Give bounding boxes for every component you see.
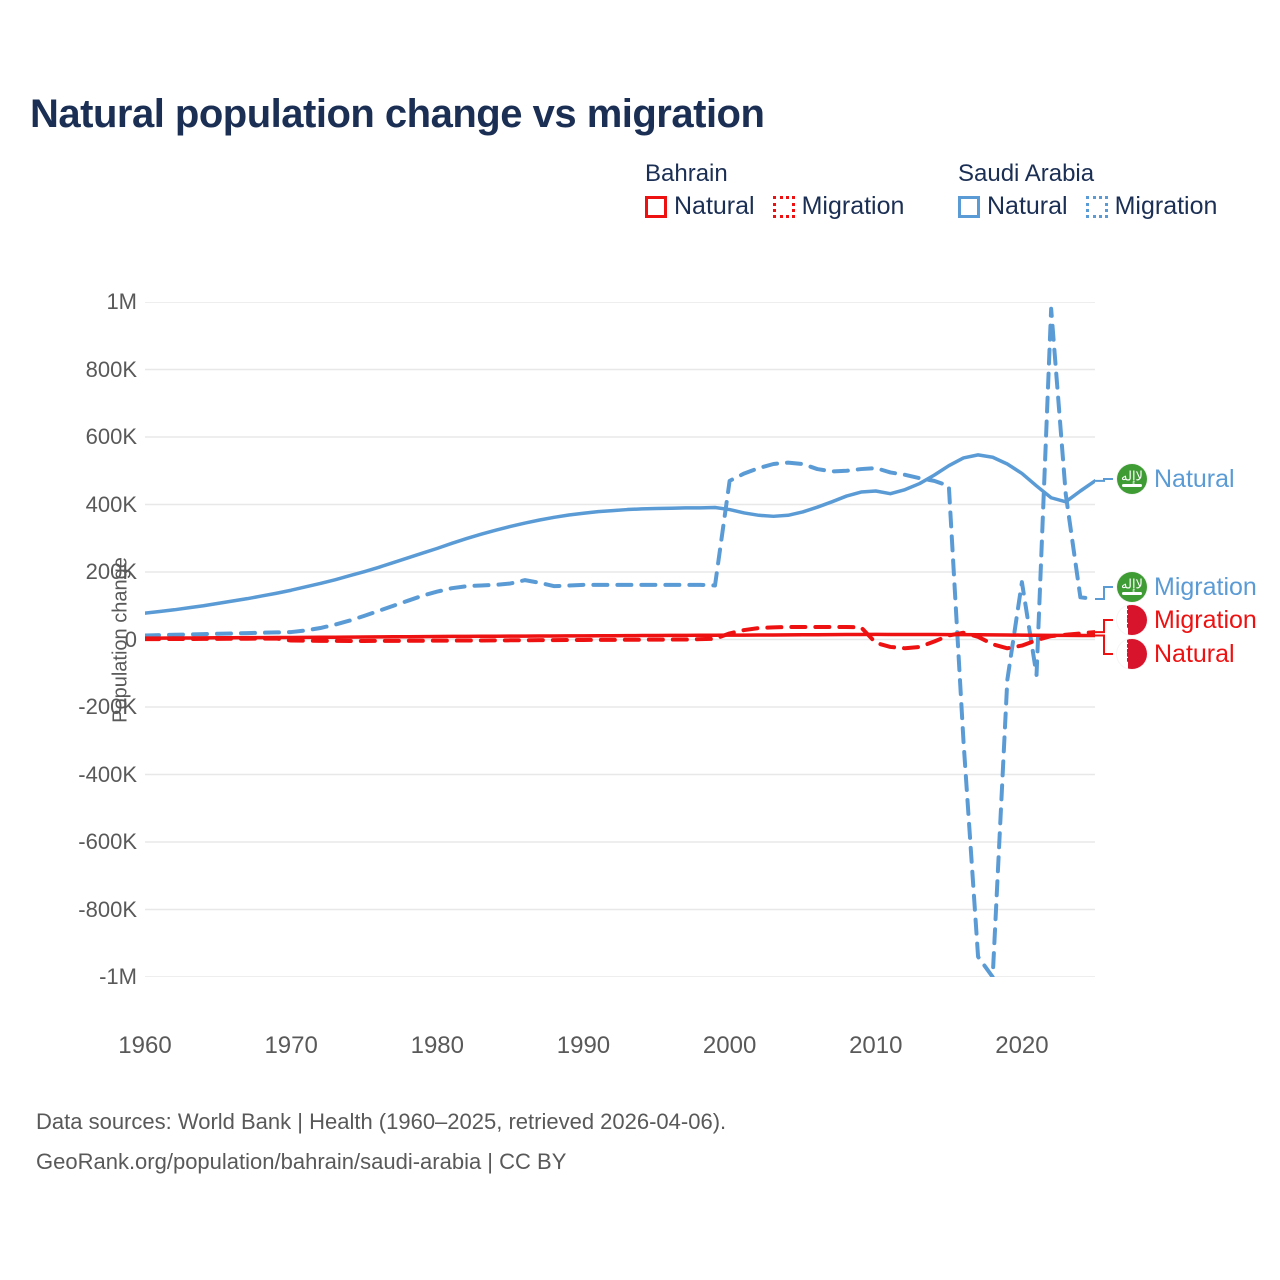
y-axis-tick-label: 600K [86, 424, 137, 450]
legend-group-title: Bahrain [645, 160, 904, 188]
saudi-arabia-flag-icon: لاإله [1117, 464, 1147, 494]
legend-swatch-dotted-icon [1086, 196, 1108, 218]
y-axis-tick-label: -600K [78, 829, 137, 855]
legend-swatch-solid-icon [645, 196, 667, 218]
legend-item-label: Migration [1115, 192, 1218, 221]
x-axis-tick-label: 1980 [411, 1032, 464, 1060]
legend-item-bahrain-natural[interactable]: Natural [645, 192, 755, 221]
series-end-label[interactable]: لاإلهMigration [1117, 572, 1257, 602]
bahrain-flag-icon [1117, 605, 1147, 635]
x-axis-tick-label: 1960 [118, 1032, 171, 1060]
y-axis-tick-label: -1M [99, 964, 137, 990]
legend-item-label: Natural [674, 192, 755, 221]
legend-item-label: Migration [802, 192, 905, 221]
chart-root: Natural population change vs migration B… [0, 0, 1280, 1280]
series-end-label-text: Migration [1154, 573, 1257, 602]
legend-item-bahrain-migration[interactable]: Migration [773, 192, 905, 221]
leader-path [1095, 587, 1113, 599]
saudi-arabia-flag-icon: لاإله [1117, 572, 1147, 602]
y-axis-tick-label: 0 [125, 627, 137, 653]
x-axis-tick-label: 2000 [703, 1032, 756, 1060]
x-axis-tick-label: 2010 [849, 1032, 902, 1060]
y-axis-tick-label: -800K [78, 897, 137, 923]
y-axis-tick-label: -400K [78, 762, 137, 788]
legend-item-saudi-migration[interactable]: Migration [1086, 192, 1218, 221]
leader-path [1095, 620, 1113, 632]
y-axis-tick-label: 800K [86, 357, 137, 383]
legend-group-bahrain: Bahrain Natural Migration [645, 160, 904, 221]
chart-legend: Bahrain Natural Migration Saudi Arabia N… [630, 160, 1270, 240]
x-axis-tick-labels: 1960197019801990200020102020 [145, 1032, 1095, 1072]
x-axis-tick-label: 1970 [264, 1032, 317, 1060]
legend-group-title: Saudi Arabia [958, 160, 1217, 188]
y-axis-tick-label: -200K [78, 694, 137, 720]
bahrain-flag-icon [1117, 639, 1147, 669]
legend-swatch-solid-icon [958, 196, 980, 218]
leader-path [1095, 479, 1113, 481]
leader-path [1095, 636, 1113, 655]
plot-svg [145, 302, 1095, 977]
legend-group-saudi-arabia: Saudi Arabia Natural Migration [958, 160, 1217, 221]
y-axis-tick-labels: 1M800K600K400K200K0-200K-400K-600K-800K-… [0, 302, 137, 977]
series-line-saudi-arabia-natural[interactable] [145, 455, 1095, 613]
legend-item-label: Natural [987, 192, 1068, 221]
y-axis-tick-label: 1M [106, 289, 137, 315]
y-axis-tick-label: 200K [86, 559, 137, 585]
y-axis-tick-label: 400K [86, 492, 137, 518]
page-title: Natural population change vs migration [30, 92, 764, 137]
series-end-label-text: Migration [1154, 606, 1257, 635]
footer-attribution: GeoRank.org/population/bahrain/saudi-ara… [36, 1149, 566, 1175]
legend-item-saudi-natural[interactable]: Natural [958, 192, 1068, 221]
footer-data-sources: Data sources: World Bank | Health (1960–… [36, 1109, 726, 1135]
series-end-label[interactable]: لاإلهNatural [1117, 464, 1235, 494]
series-end-label[interactable]: Migration [1117, 605, 1257, 635]
x-axis-tick-label: 1990 [557, 1032, 610, 1060]
plot-area [145, 302, 1095, 977]
legend-swatch-dotted-icon [773, 196, 795, 218]
series-end-label-text: Natural [1154, 640, 1235, 669]
x-axis-tick-label: 2020 [995, 1032, 1048, 1060]
series-line-saudi-arabia-migration[interactable] [145, 309, 1095, 977]
series-end-label[interactable]: Natural [1117, 639, 1235, 669]
series-end-label-text: Natural [1154, 465, 1235, 494]
